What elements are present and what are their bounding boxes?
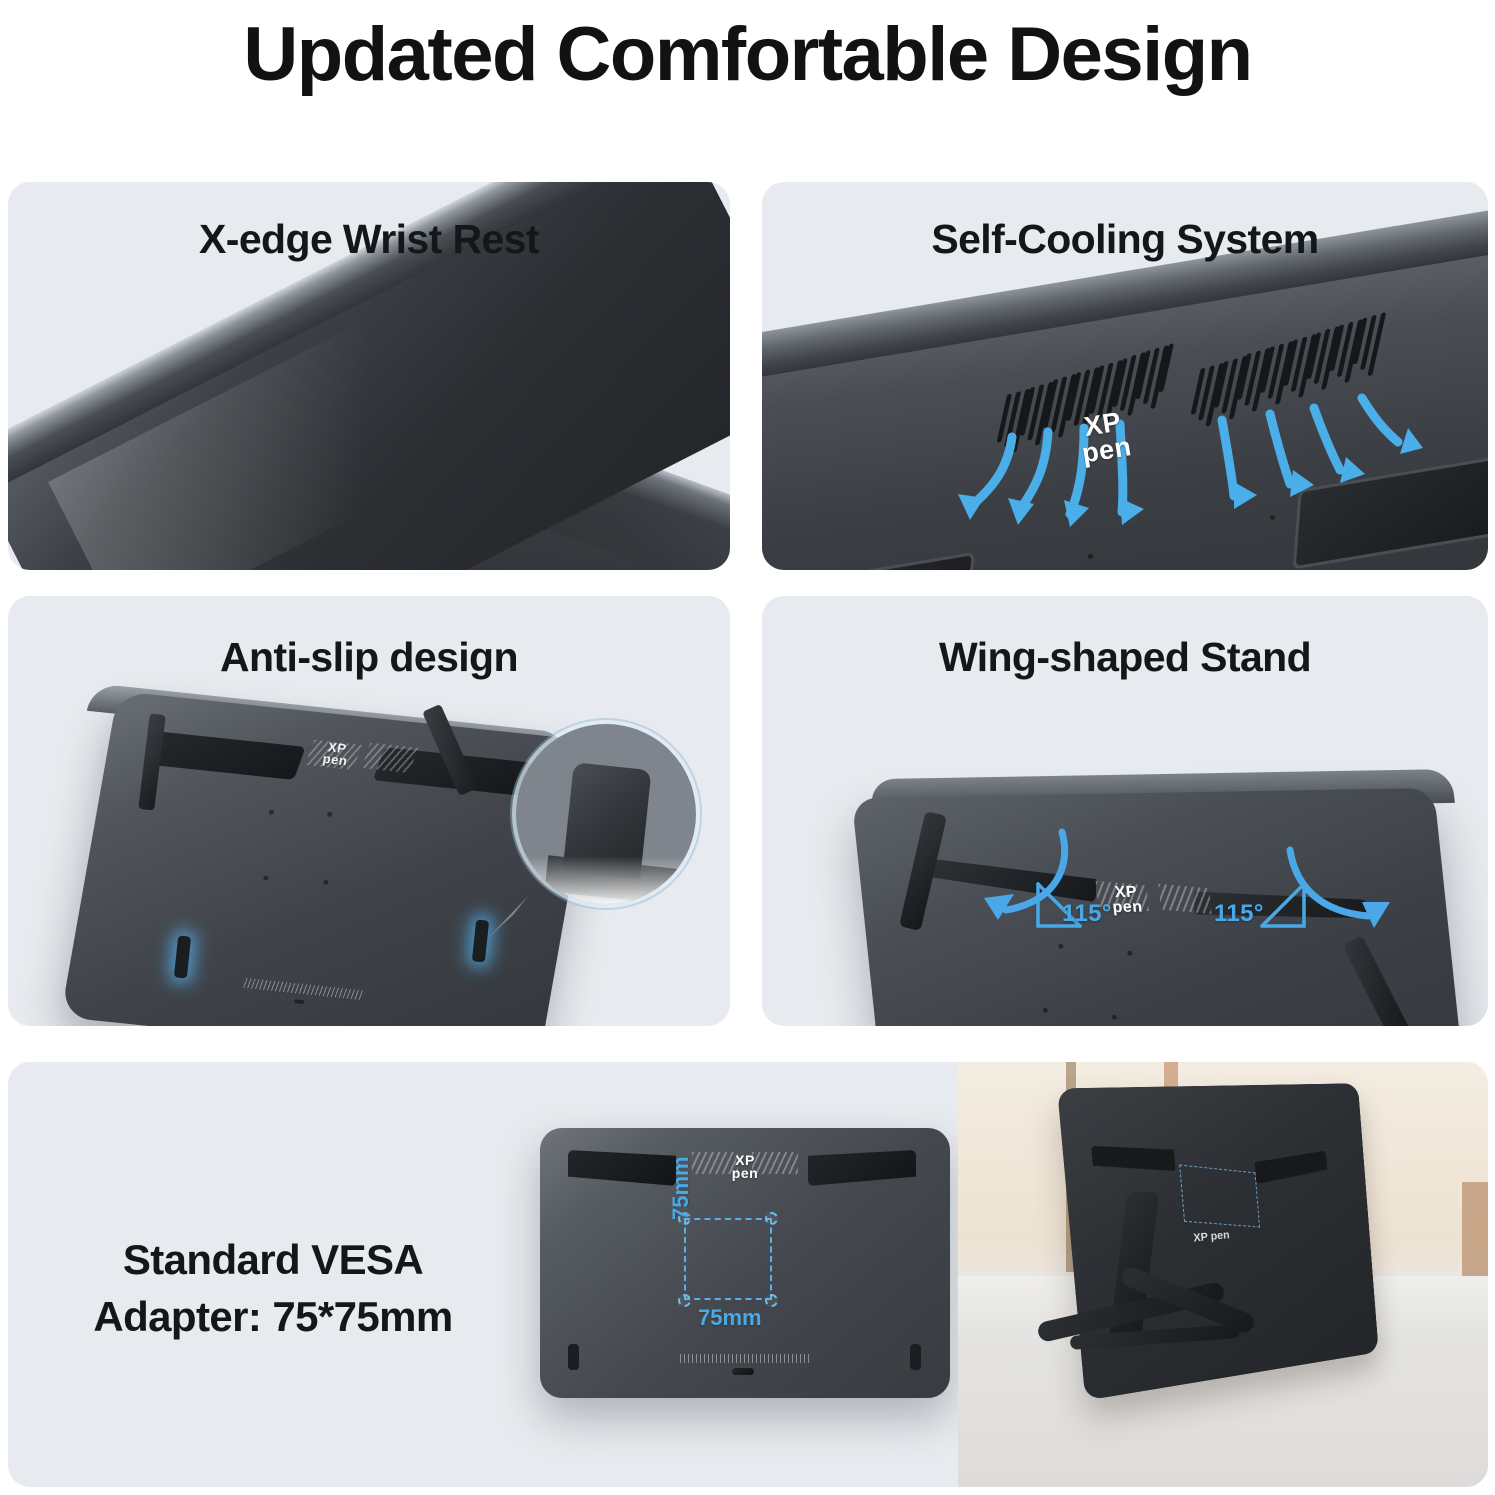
angle-label-right: 115° (1214, 900, 1264, 928)
screw-hole-icon (1043, 1008, 1049, 1013)
wing-recess-left (568, 1150, 676, 1186)
panel-title-wing-stand: Wing-shaped Stand (762, 634, 1488, 681)
wing-recess-right (808, 1150, 916, 1186)
screw-hole-icon (1270, 515, 1275, 520)
angle-label-left: 115° (1062, 900, 1112, 928)
screw-hole-icon (1127, 951, 1133, 956)
panel-self-cooling: XP pen Self-Cooling System (762, 182, 1488, 570)
infographic-page: Updated Comfortable Design X-edge Wrist … (0, 0, 1495, 1495)
wing-recess-left (1091, 1142, 1175, 1176)
panel-anti-slip: XP pen Anti-slip d (8, 596, 730, 1026)
wing-recess-left (923, 858, 1097, 902)
speaker-grille (680, 1354, 810, 1363)
callout-gloss (516, 856, 696, 904)
panel-title-self-cooling: Self-Cooling System (762, 216, 1488, 263)
panel-wing-stand: XP pen (762, 596, 1488, 1026)
screw-hole-icon (263, 875, 269, 880)
xp-pen-logo: XP pen (1110, 885, 1143, 916)
screw-hole-icon (268, 809, 274, 814)
screw-hole-icon (1058, 944, 1064, 949)
screw-hole-icon (327, 812, 333, 817)
vesa-title-line-2: Adapter: 75*75mm (38, 1289, 508, 1346)
speaker-grille (243, 978, 366, 1000)
panel-wrist-rest: X-edge Wrist Rest (8, 182, 730, 570)
screw-hole-icon (323, 880, 329, 885)
vesa-hole-top-right (765, 1212, 778, 1225)
panel-title-vesa: Standard VESA Adapter: 75*75mm (38, 1232, 508, 1345)
vesa-hole-bottom-left (678, 1294, 691, 1307)
vesa-hole-bottom-right (765, 1294, 778, 1307)
vent-hatch-right (361, 743, 418, 773)
wing-recess-right (1254, 1151, 1328, 1184)
page-title: Updated Comfortable Design (0, 6, 1495, 105)
vesa-dimension-horizontal: 75mm (698, 1305, 762, 1331)
anti-slip-foot-right (910, 1344, 921, 1370)
vent-hatch-right (1158, 884, 1211, 914)
panel-title-wrist-rest: X-edge Wrist Rest (8, 216, 730, 263)
panel-title-anti-slip: Anti-slip design (8, 634, 730, 681)
vesa-mount-square (684, 1218, 772, 1300)
vesa-mount-outline (1179, 1164, 1260, 1227)
anti-slip-foot-callout (516, 724, 696, 904)
lifestyle-photo: XP pen (958, 1062, 1488, 1487)
xp-pen-logo: XP pen (710, 1154, 780, 1181)
port-slot (294, 999, 305, 1004)
xp-pen-logo: XP pen (1076, 408, 1133, 466)
stand-recess-left (145, 731, 306, 780)
screw-hole-icon (1088, 554, 1093, 559)
xp-pen-logo: XP pen (1193, 1230, 1230, 1244)
screw-hole-icon (1112, 1015, 1118, 1020)
vesa-title-line-1: Standard VESA (38, 1232, 508, 1289)
panel-vesa-adapter: XP pen 75mm 75mm (8, 1062, 1488, 1487)
anti-slip-foot-left (568, 1344, 579, 1370)
vesa-dimension-vertical: 75mm (668, 1156, 694, 1220)
port-slot (732, 1368, 754, 1375)
tablet-on-stand: XP pen (1057, 1083, 1379, 1400)
xp-pen-logo: XP pen (322, 741, 351, 768)
